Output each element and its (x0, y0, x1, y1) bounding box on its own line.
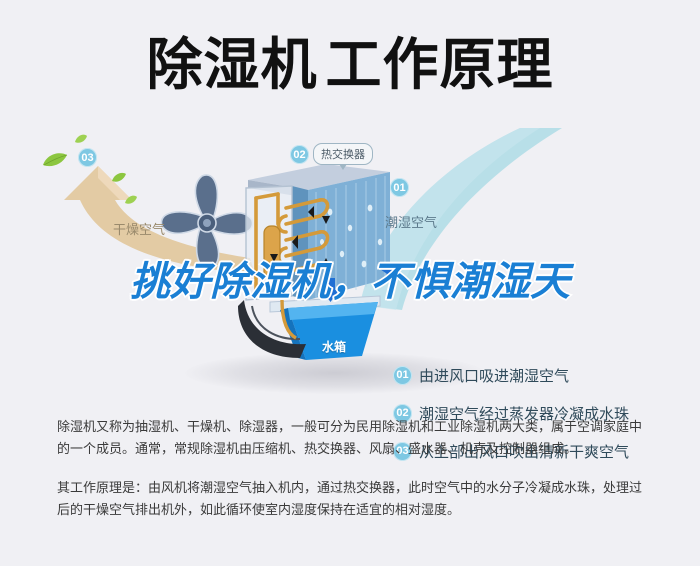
diagram-badge-03: 03 (78, 148, 97, 167)
leaf-icon (111, 172, 127, 183)
diagram-badge-01: 01 (390, 178, 409, 197)
leaf-icon (42, 152, 68, 168)
diagram-badge-02: 02 (290, 145, 309, 164)
title-part-1: 除湿机 (147, 33, 318, 96)
page-title: 除湿机工作原理 (147, 37, 554, 93)
paragraph-definition: 除湿机又称为抽湿机、干燥机、除湿器，一般可分为民用除湿机和工业除湿机两大类，属于… (57, 416, 647, 460)
callout-heat-exchanger: 热交换器 (313, 143, 373, 165)
infographic-page: 除湿机工作原理 (0, 0, 700, 566)
paragraph-principle: 其工作原理是：由风机将潮湿空气抽入机内，通过热交换器，此时空气中的水分子冷凝成水… (57, 477, 647, 521)
body-copy: 除湿机又称为抽湿机、干燥机、除湿器，一般可分为民用除湿机和工业除湿机两大类，属于… (57, 416, 647, 521)
leaf-icon (74, 134, 88, 144)
label-humid-air: 潮湿空气 (385, 212, 437, 231)
title-part-2: 工作原理 (326, 33, 554, 96)
leaf-icon (124, 195, 138, 205)
diagram-stage: 干燥空气 潮湿空气 水箱 03 02 01 热交换器 01 由进风口吸进潮湿空气… (0, 120, 700, 395)
legend-text-01: 由进风口吸进潮湿空气 (419, 365, 569, 386)
watermark-text: 挑好除湿机，不惧潮湿天 (0, 262, 700, 302)
legend-badge-01: 01 (393, 366, 412, 385)
list-item: 01 由进风口吸进潮湿空气 (393, 365, 693, 385)
dehumidifier-machine-diagram (230, 150, 400, 365)
label-dry-air: 干燥空气 (113, 219, 165, 238)
label-water-tank: 水箱 (322, 338, 346, 355)
title-bar: 除湿机工作原理 (0, 20, 700, 110)
